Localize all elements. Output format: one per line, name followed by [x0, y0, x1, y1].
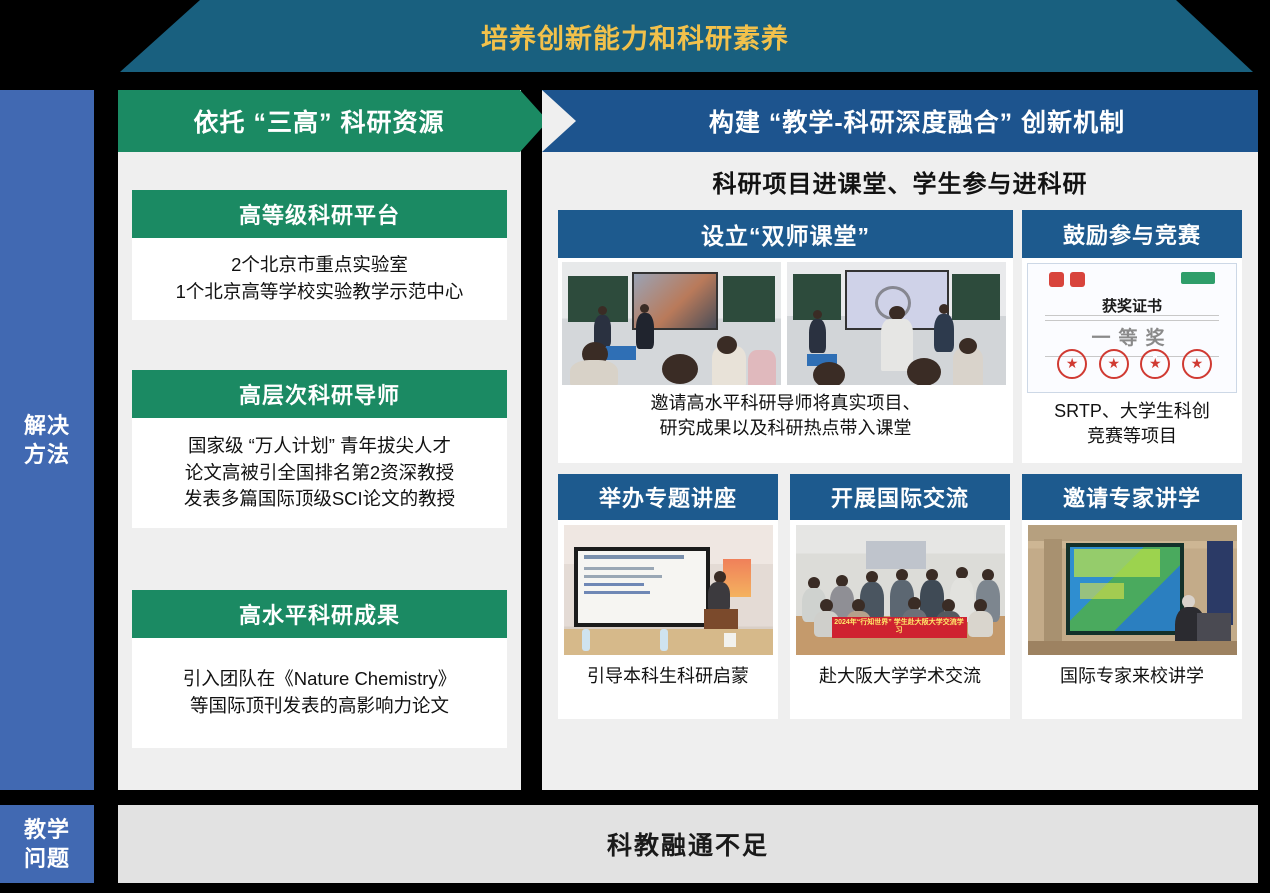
right-column-subtitle: 科研项目进课堂、学生参与进科研 [542, 160, 1258, 202]
card-special-lecture-caption: 引导本科生科研启蒙 [558, 655, 778, 689]
right-column-banner-shape: 构建 “教学-科研深度融合” 创新机制 [542, 90, 1258, 152]
card-research-platform-header: 高等级科研平台 [132, 190, 507, 238]
left-column-banner: 依托 “三高” 科研资源 [118, 90, 548, 152]
photo-expert-lecture-auditorium [1028, 525, 1237, 655]
sidebar-tab-solution-line1: 解决 [24, 411, 70, 440]
certificate-title: 获奖证书 [1028, 295, 1236, 316]
card-line: 2个北京市重点实验室 [231, 252, 408, 279]
card-competitions-caption: SRTP、大学生科创 竞赛等项目 [1022, 393, 1242, 449]
certificate-prize: 一等奖 [1028, 323, 1236, 350]
card-line: 等国际顶刊发表的高影响力论文 [190, 693, 449, 720]
photo-lecture-hall-presentation [564, 525, 773, 655]
top-banner: 培养创新能力和科研素养 [0, 0, 1270, 72]
card-research-achievements-body: 引入团队在《Nature Chemistry》 等国际顶刊发表的高影响力论文 [132, 638, 507, 748]
photo-award-certificate: 获奖证书 一等奖 ★ ★ ★ ★ [1027, 263, 1237, 393]
card-line: 1个北京高等学校实验教学示范中心 [176, 279, 464, 306]
bottom-bar: 科教融通不足 [118, 805, 1258, 883]
card-expert-lecture-header: 邀请专家讲学 [1022, 474, 1242, 520]
sidebar-tab-problem[interactable]: 教学 问题 [0, 805, 94, 883]
right-column: 构建 “教学-科研深度融合” 创新机制 科研项目进课堂、学生参与进科研 设立“双… [542, 90, 1258, 790]
card-expert-lecture-caption: 国际专家来校讲学 [1022, 655, 1242, 689]
main-content: 依托 “三高” 科研资源 高等级科研平台 2个北京市重点实验室 1个北京高等学校… [118, 90, 1258, 790]
right-column-banner-label: 构建 “教学-科研深度融合” 创新机制 [576, 90, 1258, 152]
top-banner-title: 培养创新能力和科研素养 [0, 0, 1270, 72]
caption-line: 邀请高水平科研导师将真实项目、 [566, 391, 1005, 416]
photo-classroom-dual-teacher-2 [787, 262, 1006, 385]
left-column-banner-label: 依托 “三高” 科研资源 [118, 90, 520, 152]
emblem-icon [1049, 272, 1064, 287]
sidebar-tab-problem-line2: 问题 [24, 844, 70, 873]
card-dual-teacher-class-photos [558, 258, 1013, 385]
card-dual-teacher-class[interactable]: 设立“双师课堂” [558, 210, 1013, 463]
caption-line: 引导本科生科研启蒙 [562, 664, 774, 689]
sponsor-logo [1181, 272, 1215, 284]
photo-group-photo-osaka: 2024年“行知世界” 学生赴大阪大学交流学习 [796, 525, 1005, 655]
caption-line: SRTP、大学生科创 [1028, 399, 1236, 424]
caption-line: 赴大阪大学学术交流 [794, 664, 1006, 689]
left-column-banner-shape: 依托 “三高” 科研资源 [118, 90, 548, 152]
emblem-icon [1070, 272, 1085, 287]
card-research-mentors-header: 高层次科研导师 [132, 370, 507, 418]
card-research-platform[interactable]: 高等级科研平台 2个北京市重点实验室 1个北京高等学校实验教学示范中心 [132, 190, 507, 320]
caption-line: 国际专家来校讲学 [1026, 664, 1238, 689]
card-expert-lecture[interactable]: 邀请专家讲学 国际专家来校讲学 [1022, 474, 1242, 719]
card-special-lecture-header: 举办专题讲座 [558, 474, 778, 520]
seal-icon: ★ [1182, 349, 1212, 379]
card-international-exchange-header: 开展国际交流 [790, 474, 1010, 520]
seal-icon: ★ [1057, 349, 1087, 379]
card-research-achievements[interactable]: 高水平科研成果 引入团队在《Nature Chemistry》 等国际顶刊发表的… [132, 590, 507, 748]
right-column-banner: 构建 “教学-科研深度融合” 创新机制 [542, 90, 1258, 152]
caption-line: 竞赛等项目 [1028, 424, 1236, 449]
card-dual-teacher-class-header: 设立“双师课堂” [558, 210, 1013, 258]
card-research-achievements-header: 高水平科研成果 [132, 590, 507, 638]
card-research-mentors[interactable]: 高层次科研导师 国家级 “万人计划” 青年拔尖人才 论文高被引全国排名第2资深教… [132, 370, 507, 528]
sidebar-tab-solution[interactable]: 解决 方法 [0, 90, 94, 790]
card-research-mentors-body: 国家级 “万人计划” 青年拔尖人才 论文高被引全国排名第2资深教授 发表多篇国际… [132, 418, 507, 528]
left-column: 依托 “三高” 科研资源 高等级科研平台 2个北京市重点实验室 1个北京高等学校… [118, 90, 521, 790]
photo-classroom-dual-teacher-1 [562, 262, 781, 385]
card-competitions[interactable]: 鼓励参与竞赛 获奖证书 一等奖 ★ ★ ★ ★ SRTP、大学生科创 竞赛等项目 [1022, 210, 1242, 463]
card-line: 发表多篇国际顶级SCI论文的教授 [184, 486, 455, 513]
card-dual-teacher-class-caption: 邀请高水平科研导师将真实项目、 研究成果以及科研热点带入课堂 [558, 385, 1013, 441]
card-international-exchange[interactable]: 开展国际交流 [790, 474, 1010, 719]
sidebar-tab-solution-line2: 方法 [24, 440, 70, 469]
card-line: 引入团队在《Nature Chemistry》 [183, 666, 456, 693]
seal-icon: ★ [1099, 349, 1129, 379]
sidebar-tab-problem-line1: 教学 [24, 815, 70, 844]
card-line: 论文高被引全国排名第2资深教授 [185, 460, 454, 487]
caption-line: 研究成果以及科研热点带入课堂 [566, 416, 1005, 441]
card-research-platform-body: 2个北京市重点实验室 1个北京高等学校实验教学示范中心 [132, 238, 507, 320]
card-competitions-header: 鼓励参与竞赛 [1022, 210, 1242, 258]
seal-icon: ★ [1140, 349, 1170, 379]
card-special-lecture[interactable]: 举办专题讲座 引导本科生科研启蒙 [558, 474, 778, 719]
card-international-exchange-caption: 赴大阪大学学术交流 [790, 655, 1010, 689]
group-photo-banner-text: 2024年“行知世界” 学生赴大阪大学交流学习 [832, 617, 967, 638]
bottom-bar-text: 科教融通不足 [607, 826, 769, 862]
card-line: 国家级 “万人计划” 青年拔尖人才 [188, 433, 451, 460]
